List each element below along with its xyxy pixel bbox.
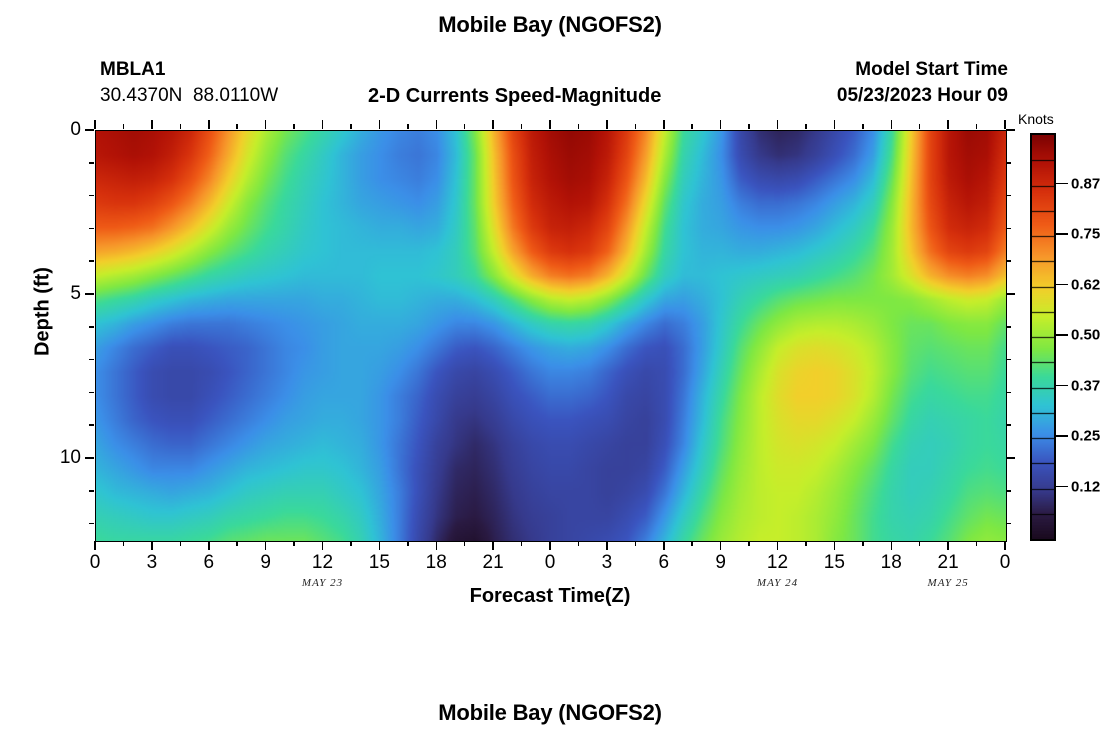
model-start-block: Model Start Time 05/23/2023 Hour 09 xyxy=(837,57,1008,109)
colorbar-gradient xyxy=(1032,135,1054,539)
y-axis-minor-tick xyxy=(89,162,94,164)
x-axis-tick-label: 9 xyxy=(715,552,726,574)
y-axis-minor-tick xyxy=(89,359,94,361)
x-axis-minor-tick-top xyxy=(805,124,807,129)
x-axis-minor-tick xyxy=(350,541,352,546)
x-axis-minor-tick xyxy=(862,541,864,546)
x-axis-minor-tick xyxy=(635,541,637,546)
y-axis-minor-tick-right xyxy=(1006,359,1011,361)
y-axis-minor-tick-right xyxy=(1006,228,1011,230)
x-axis-minor-tick xyxy=(293,541,295,546)
y-axis-major-tick xyxy=(85,293,94,295)
x-axis-minor-tick-top xyxy=(521,124,523,129)
x-axis-tick-label: 0 xyxy=(90,552,101,574)
x-axis-minor-tick-top xyxy=(180,124,182,129)
x-axis-tick-label: 12 xyxy=(312,552,333,574)
y-axis-minor-tick xyxy=(89,260,94,262)
colorbar-tick xyxy=(1056,486,1068,488)
colorbar-tick-label: 0.375 xyxy=(1071,377,1100,394)
x-axis-major-tick xyxy=(151,541,153,550)
x-axis-minor-tick xyxy=(407,541,409,546)
y-axis-minor-tick-right xyxy=(1006,523,1011,525)
y-axis-major-tick xyxy=(85,129,94,131)
model-start-label: Model Start Time xyxy=(837,57,1008,82)
x-axis-tick-label: 18 xyxy=(426,552,447,574)
y-axis-minor-tick xyxy=(89,326,94,328)
x-axis-major-tick xyxy=(606,541,608,550)
x-axis-tick-label: 15 xyxy=(824,552,845,574)
x-axis-minor-tick-top xyxy=(748,124,750,129)
y-axis-major-tick-right xyxy=(1006,129,1015,131)
x-axis-major-tick xyxy=(492,541,494,550)
x-axis-minor-tick xyxy=(976,541,978,546)
colorbar-tick-label: 0.625 xyxy=(1071,276,1100,293)
colorbar-tick-label: 0.500 xyxy=(1071,327,1100,344)
x-axis-major-tick xyxy=(549,541,551,550)
y-axis-major-tick xyxy=(85,457,94,459)
y-axis-title: Depth (ft) xyxy=(32,242,55,382)
x-axis-minor-tick-top xyxy=(606,124,608,129)
colorbar-tick xyxy=(1056,435,1068,437)
y-axis-minor-tick-right xyxy=(1006,490,1011,492)
x-axis-minor-tick xyxy=(691,541,693,546)
x-axis-minor-tick-top xyxy=(123,124,125,129)
x-axis-major-tick xyxy=(834,541,836,550)
x-axis-tick-label: 15 xyxy=(369,552,390,574)
x-axis-minor-tick-top xyxy=(322,124,324,129)
x-axis-major-tick xyxy=(720,541,722,550)
x-axis-minor-tick-top xyxy=(379,124,381,129)
x-axis-minor-tick-top xyxy=(663,124,665,129)
x-axis-minor-tick-top xyxy=(350,124,352,129)
y-axis-minor-tick xyxy=(89,523,94,525)
y-axis-tick-label: 10 xyxy=(43,447,81,469)
x-axis-tick-label: 3 xyxy=(602,552,613,574)
x-axis-minor-tick-top xyxy=(94,124,96,129)
x-axis-minor-tick xyxy=(748,541,750,546)
x-axis-major-tick xyxy=(265,541,267,550)
heatmap-plot-area xyxy=(95,130,1007,542)
y-axis-major-tick-right xyxy=(1006,293,1015,295)
x-axis-tick-label: 21 xyxy=(938,552,959,574)
x-axis-minor-tick-top xyxy=(777,124,779,129)
x-axis-minor-tick-top xyxy=(862,124,864,129)
heatmap-canvas xyxy=(96,131,1006,541)
x-axis-title: Forecast Time(Z) xyxy=(95,585,1005,608)
x-axis-tick-label: 6 xyxy=(658,552,669,574)
x-axis-major-tick xyxy=(94,541,96,550)
x-axis-tick-label: 9 xyxy=(260,552,271,574)
x-axis-major-tick xyxy=(947,541,949,550)
x-axis-minor-tick xyxy=(578,541,580,546)
bottom-page-title: Mobile Bay (NGOFS2) xyxy=(0,700,1100,726)
y-axis-minor-tick xyxy=(89,392,94,394)
x-axis-minor-tick-top xyxy=(919,124,921,129)
x-axis-tick-label: 0 xyxy=(1000,552,1011,574)
y-axis-minor-tick-right xyxy=(1006,424,1011,426)
x-axis-major-tick xyxy=(436,541,438,550)
x-axis-major-tick xyxy=(379,541,381,550)
station-info-block: MBLA1 30.4370N 88.0110W xyxy=(100,57,278,109)
x-axis-minor-tick-top xyxy=(635,124,637,129)
x-axis-minor-tick xyxy=(805,541,807,546)
x-axis-minor-tick-top xyxy=(549,124,551,129)
y-axis-minor-tick-right xyxy=(1006,162,1011,164)
y-axis-minor-tick xyxy=(89,490,94,492)
colorbar-tick xyxy=(1056,385,1068,387)
x-axis-major-tick xyxy=(322,541,324,550)
x-axis-minor-tick xyxy=(123,541,125,546)
colorbar-unit-label: Knots xyxy=(1018,111,1054,127)
x-axis-minor-tick-top xyxy=(891,124,893,129)
x-axis-minor-tick xyxy=(521,541,523,546)
x-axis-minor-tick xyxy=(464,541,466,546)
colorbar-tick-label: 0.875 xyxy=(1071,175,1100,192)
colorbar-tick xyxy=(1056,233,1068,235)
station-id: MBLA1 xyxy=(100,57,278,82)
x-axis-major-tick xyxy=(663,541,665,550)
colorbar xyxy=(1030,133,1056,541)
x-axis-minor-tick-top xyxy=(834,124,836,129)
y-axis-minor-tick xyxy=(89,424,94,426)
x-axis-minor-tick-top xyxy=(720,124,722,129)
y-axis-minor-tick-right xyxy=(1006,260,1011,262)
x-axis-minor-tick xyxy=(919,541,921,546)
plot-subtitle: 2-D Currents Speed-Magnitude xyxy=(368,85,661,108)
x-axis-tick-label: 21 xyxy=(483,552,504,574)
x-axis-major-tick xyxy=(891,541,893,550)
y-axis-major-tick-right xyxy=(1006,457,1015,459)
x-axis-minor-tick-top xyxy=(436,124,438,129)
colorbar-tick-label: 0.750 xyxy=(1071,226,1100,243)
x-axis-tick-label: 3 xyxy=(147,552,158,574)
x-axis-minor-tick-top xyxy=(236,124,238,129)
y-axis-minor-tick-right xyxy=(1006,326,1011,328)
colorbar-tick-label: 0.250 xyxy=(1071,428,1100,445)
x-axis-tick-label: 0 xyxy=(545,552,556,574)
x-axis-minor-tick-top xyxy=(976,124,978,129)
colorbar-tick-label: 0.125 xyxy=(1071,478,1100,495)
x-axis-minor-tick xyxy=(236,541,238,546)
x-axis-minor-tick-top xyxy=(1004,124,1006,129)
station-coordinates: 30.4370N 88.0110W xyxy=(100,82,278,109)
y-axis-minor-tick-right xyxy=(1006,195,1011,197)
x-axis-minor-tick-top xyxy=(691,124,693,129)
y-axis-minor-tick-right xyxy=(1006,392,1011,394)
model-start-value: 05/23/2023 Hour 09 xyxy=(837,82,1008,109)
x-axis-major-tick xyxy=(1004,541,1006,550)
x-axis-minor-tick-top xyxy=(265,124,267,129)
y-axis-minor-tick xyxy=(89,228,94,230)
x-axis-minor-tick-top xyxy=(947,124,949,129)
x-axis-minor-tick-top xyxy=(464,124,466,129)
y-axis-minor-tick xyxy=(89,195,94,197)
x-axis-minor-tick-top xyxy=(151,124,153,129)
colorbar-tick xyxy=(1056,334,1068,336)
x-axis-minor-tick xyxy=(180,541,182,546)
x-axis-major-tick xyxy=(777,541,779,550)
x-axis-major-tick xyxy=(208,541,210,550)
y-axis-tick-label: 0 xyxy=(43,119,81,141)
x-axis-minor-tick-top xyxy=(293,124,295,129)
x-axis-minor-tick-top xyxy=(208,124,210,129)
colorbar-tick xyxy=(1056,183,1068,185)
x-axis-minor-tick-top xyxy=(578,124,580,129)
x-axis-tick-label: 6 xyxy=(203,552,214,574)
x-axis-minor-tick-top xyxy=(407,124,409,129)
x-axis-tick-label: 18 xyxy=(881,552,902,574)
x-axis-tick-label: 12 xyxy=(767,552,788,574)
colorbar-tick xyxy=(1056,284,1068,286)
page-title: Mobile Bay (NGOFS2) xyxy=(0,12,1100,38)
x-axis-minor-tick-top xyxy=(492,124,494,129)
